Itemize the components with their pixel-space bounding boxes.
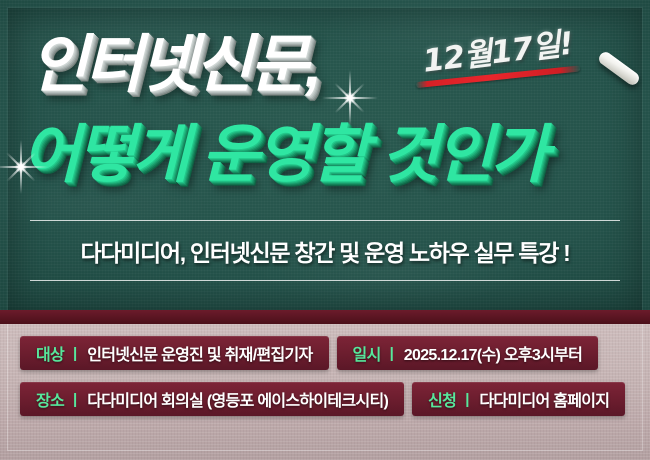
info-chip-label: 신청: [428, 387, 456, 411]
sparkle-ray: [335, 83, 365, 113]
info-row: 장소 | 다다미디어 회의실 (영등포 에이스하이테크시티) 신청 | 다다미디…: [0, 382, 650, 416]
sparkle-core: [344, 92, 356, 104]
info-chip-separator: |: [73, 391, 77, 408]
sparkle-ray: [335, 83, 365, 113]
subtitle-block: 다다미디어, 인터넷신문 창간 및 운영 노하우 실무 특강 !: [30, 220, 620, 281]
info-chip-label: 대상: [36, 341, 64, 365]
sparkle-icon: [322, 70, 378, 126]
info-chip-datetime: 일시 | 2025.12.17(수) 오후3시부터: [337, 336, 599, 370]
headline-line-2: 어떻게 운영할 것인가: [22, 124, 546, 187]
info-panel: 대상 | 인터넷신문 운영진 및 취재/편집기자 일시 | 2025.12.17…: [0, 324, 650, 460]
chalk-stick-icon: [597, 50, 642, 88]
info-chip-separator: |: [465, 391, 469, 408]
section-divider: [0, 310, 650, 324]
subtitle-rule-bottom: [30, 280, 620, 281]
chalkboard-area: 인터넷신문, 어떻게 운영할 것인가 12월17일! 다다미: [0, 0, 650, 310]
promo-banner: 인터넷신문, 어떻게 운영할 것인가 12월17일! 다다미: [0, 0, 650, 460]
info-chip-value: 인터넷신문 운영진 및 취재/편집기자: [87, 341, 312, 365]
info-chip-separator: |: [390, 345, 394, 362]
info-chip-separator: |: [73, 345, 77, 362]
headline-line-1: 인터넷신문,: [30, 34, 319, 97]
info-chip-value: 다다미디어 홈페이지: [479, 387, 609, 411]
info-chip-location: 장소 | 다다미디어 회의실 (영등포 에이스하이테크시티): [20, 382, 404, 416]
info-row: 대상 | 인터넷신문 운영진 및 취재/편집기자 일시 | 2025.12.17…: [0, 336, 650, 370]
info-chip-value: 다다미디어 회의실 (영등포 에이스하이테크시티): [87, 387, 388, 411]
info-chip-registration: 신청 | 다다미디어 홈페이지: [412, 382, 625, 416]
sparkle-ray: [349, 70, 351, 126]
info-chip-value: 2025.12.17(수) 오후3시부터: [404, 341, 582, 365]
info-chip-target: 대상 | 인터넷신문 운영진 및 취재/편집기자: [20, 336, 329, 370]
info-chip-label: 일시: [353, 341, 381, 365]
sparkle-ray: [322, 97, 378, 99]
info-rows: 대상 | 인터넷신문 운영진 및 취재/편집기자 일시 | 2025.12.17…: [0, 336, 650, 428]
handwritten-date-group: 12월17일!: [420, 17, 580, 88]
info-chip-label: 장소: [36, 387, 64, 411]
subtitle-text: 다다미디어, 인터넷신문 창간 및 운영 노하우 실무 특강 !: [30, 221, 620, 280]
